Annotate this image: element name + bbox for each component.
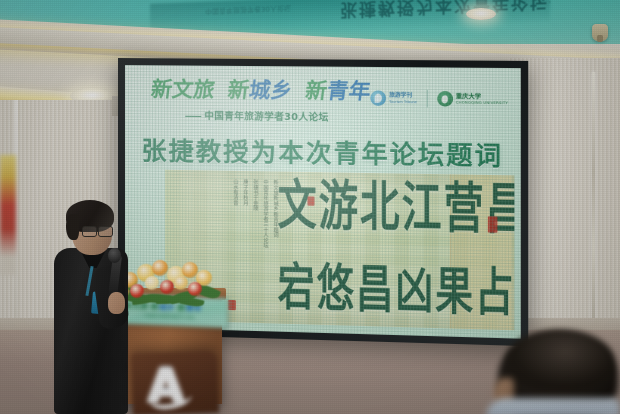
chongqing-university-mark-icon — [437, 91, 453, 107]
audience-shoulder — [486, 398, 620, 414]
screen-logo-group: 旅游学刊 Tourism Tribune 重庆大学 CHONGQING UNIV… — [370, 89, 508, 108]
logo-divider — [426, 90, 427, 107]
seal-character: 营 — [444, 182, 484, 237]
chongqing-university-name-en: CHONGQING UNIVERSITY — [456, 101, 508, 106]
tourism-tribune-label: 旅游学刊 Tourism Tribune — [389, 93, 417, 105]
chongqing-university-logo: 重庆大学 CHONGQING UNIVERSITY — [437, 91, 508, 107]
banner-subtitle: 中国青年旅游学者30人论坛 — [185, 108, 491, 126]
conference-photo: 张捷教授为本次青年论坛题词 中国青年旅游学者30人论坛 新文旅 新城乡 新青年 … — [0, 0, 620, 414]
wall-seam-right — [592, 72, 595, 322]
recessed-downlight — [466, 8, 496, 20]
seal-character: 凶 — [395, 264, 433, 316]
microphone-icon — [108, 248, 121, 263]
screen-reflection-title: 张捷教授为本次青年论坛题词 — [340, 0, 550, 24]
red-seal-stamp — [228, 300, 236, 310]
speaker-hand — [108, 292, 125, 314]
seal-script-row-lower: 宕 悠 昌 凶 果 占 — [277, 259, 506, 322]
colophon-column: 张捷书于金陵 — [252, 179, 259, 313]
seal-character: 北 — [360, 181, 400, 236]
slogan-word-1: 新文旅 — [150, 79, 216, 101]
flower-bloom — [145, 276, 159, 290]
red-seal-stamp — [488, 216, 498, 233]
seal-character: 果 — [435, 265, 473, 318]
flower-bloom — [188, 282, 202, 296]
tourism-tribune-mark-icon — [370, 90, 386, 105]
flower-bloom — [174, 276, 188, 290]
glasses-icon — [82, 226, 112, 236]
slogan-word-3: 新青年 — [304, 81, 372, 103]
screen-title: 张捷教授为本次青年论坛题词 — [125, 131, 521, 173]
chongqing-university-label: 重庆大学 CHONGQING UNIVERSITY — [456, 93, 508, 105]
colophon-column: 庚子年秋月 — [241, 179, 248, 256]
flower-bloom — [152, 260, 168, 276]
audience-hair — [506, 330, 614, 392]
tourism-tribune-name: 旅游学刊 — [389, 93, 417, 100]
seal-character: 江 — [402, 181, 442, 236]
banner-dash — [185, 115, 201, 117]
speaker-person — [52, 196, 138, 414]
red-seal-stamp — [307, 196, 314, 205]
tourism-tribune-logo: 旅游学刊 Tourism Tribune — [370, 90, 417, 106]
colophon-column: 山水有清音 — [231, 179, 238, 256]
seal-character: 占 — [475, 266, 513, 319]
doorway-glimpse-left — [0, 155, 16, 275]
seal-character: 游 — [319, 180, 358, 234]
screen-reflection-subtitle: 中国青年旅游学者30人论坛 — [205, 0, 365, 16]
slogan-word-2: 新城乡 — [226, 80, 293, 102]
speaker-hair-side — [66, 214, 79, 240]
chair-brand-logo: A — [148, 362, 198, 410]
tourism-tribune-name-en: Tourism Tribune — [389, 100, 417, 105]
banner-subtitle-text: 中国青年旅游学者30人论坛 — [204, 111, 328, 124]
colophon-column: 中国青年旅游学者三十人论坛 — [262, 179, 269, 281]
seal-character: 宕 — [278, 262, 315, 314]
seal-character: 悠 — [317, 263, 354, 315]
ceiling-sprinkler-icon — [592, 24, 608, 41]
seal-character: 昌 — [356, 263, 394, 315]
podium-sign-subtitle: ——中国青年旅游学者30人论坛 — [135, 313, 195, 321]
flower-bloom — [160, 280, 174, 294]
seal-character: 文 — [278, 179, 317, 233]
chair-logo-swoosh-icon — [149, 386, 193, 411]
seal-script-row-upper: 文 游 北 江 营 昌 — [277, 176, 506, 242]
